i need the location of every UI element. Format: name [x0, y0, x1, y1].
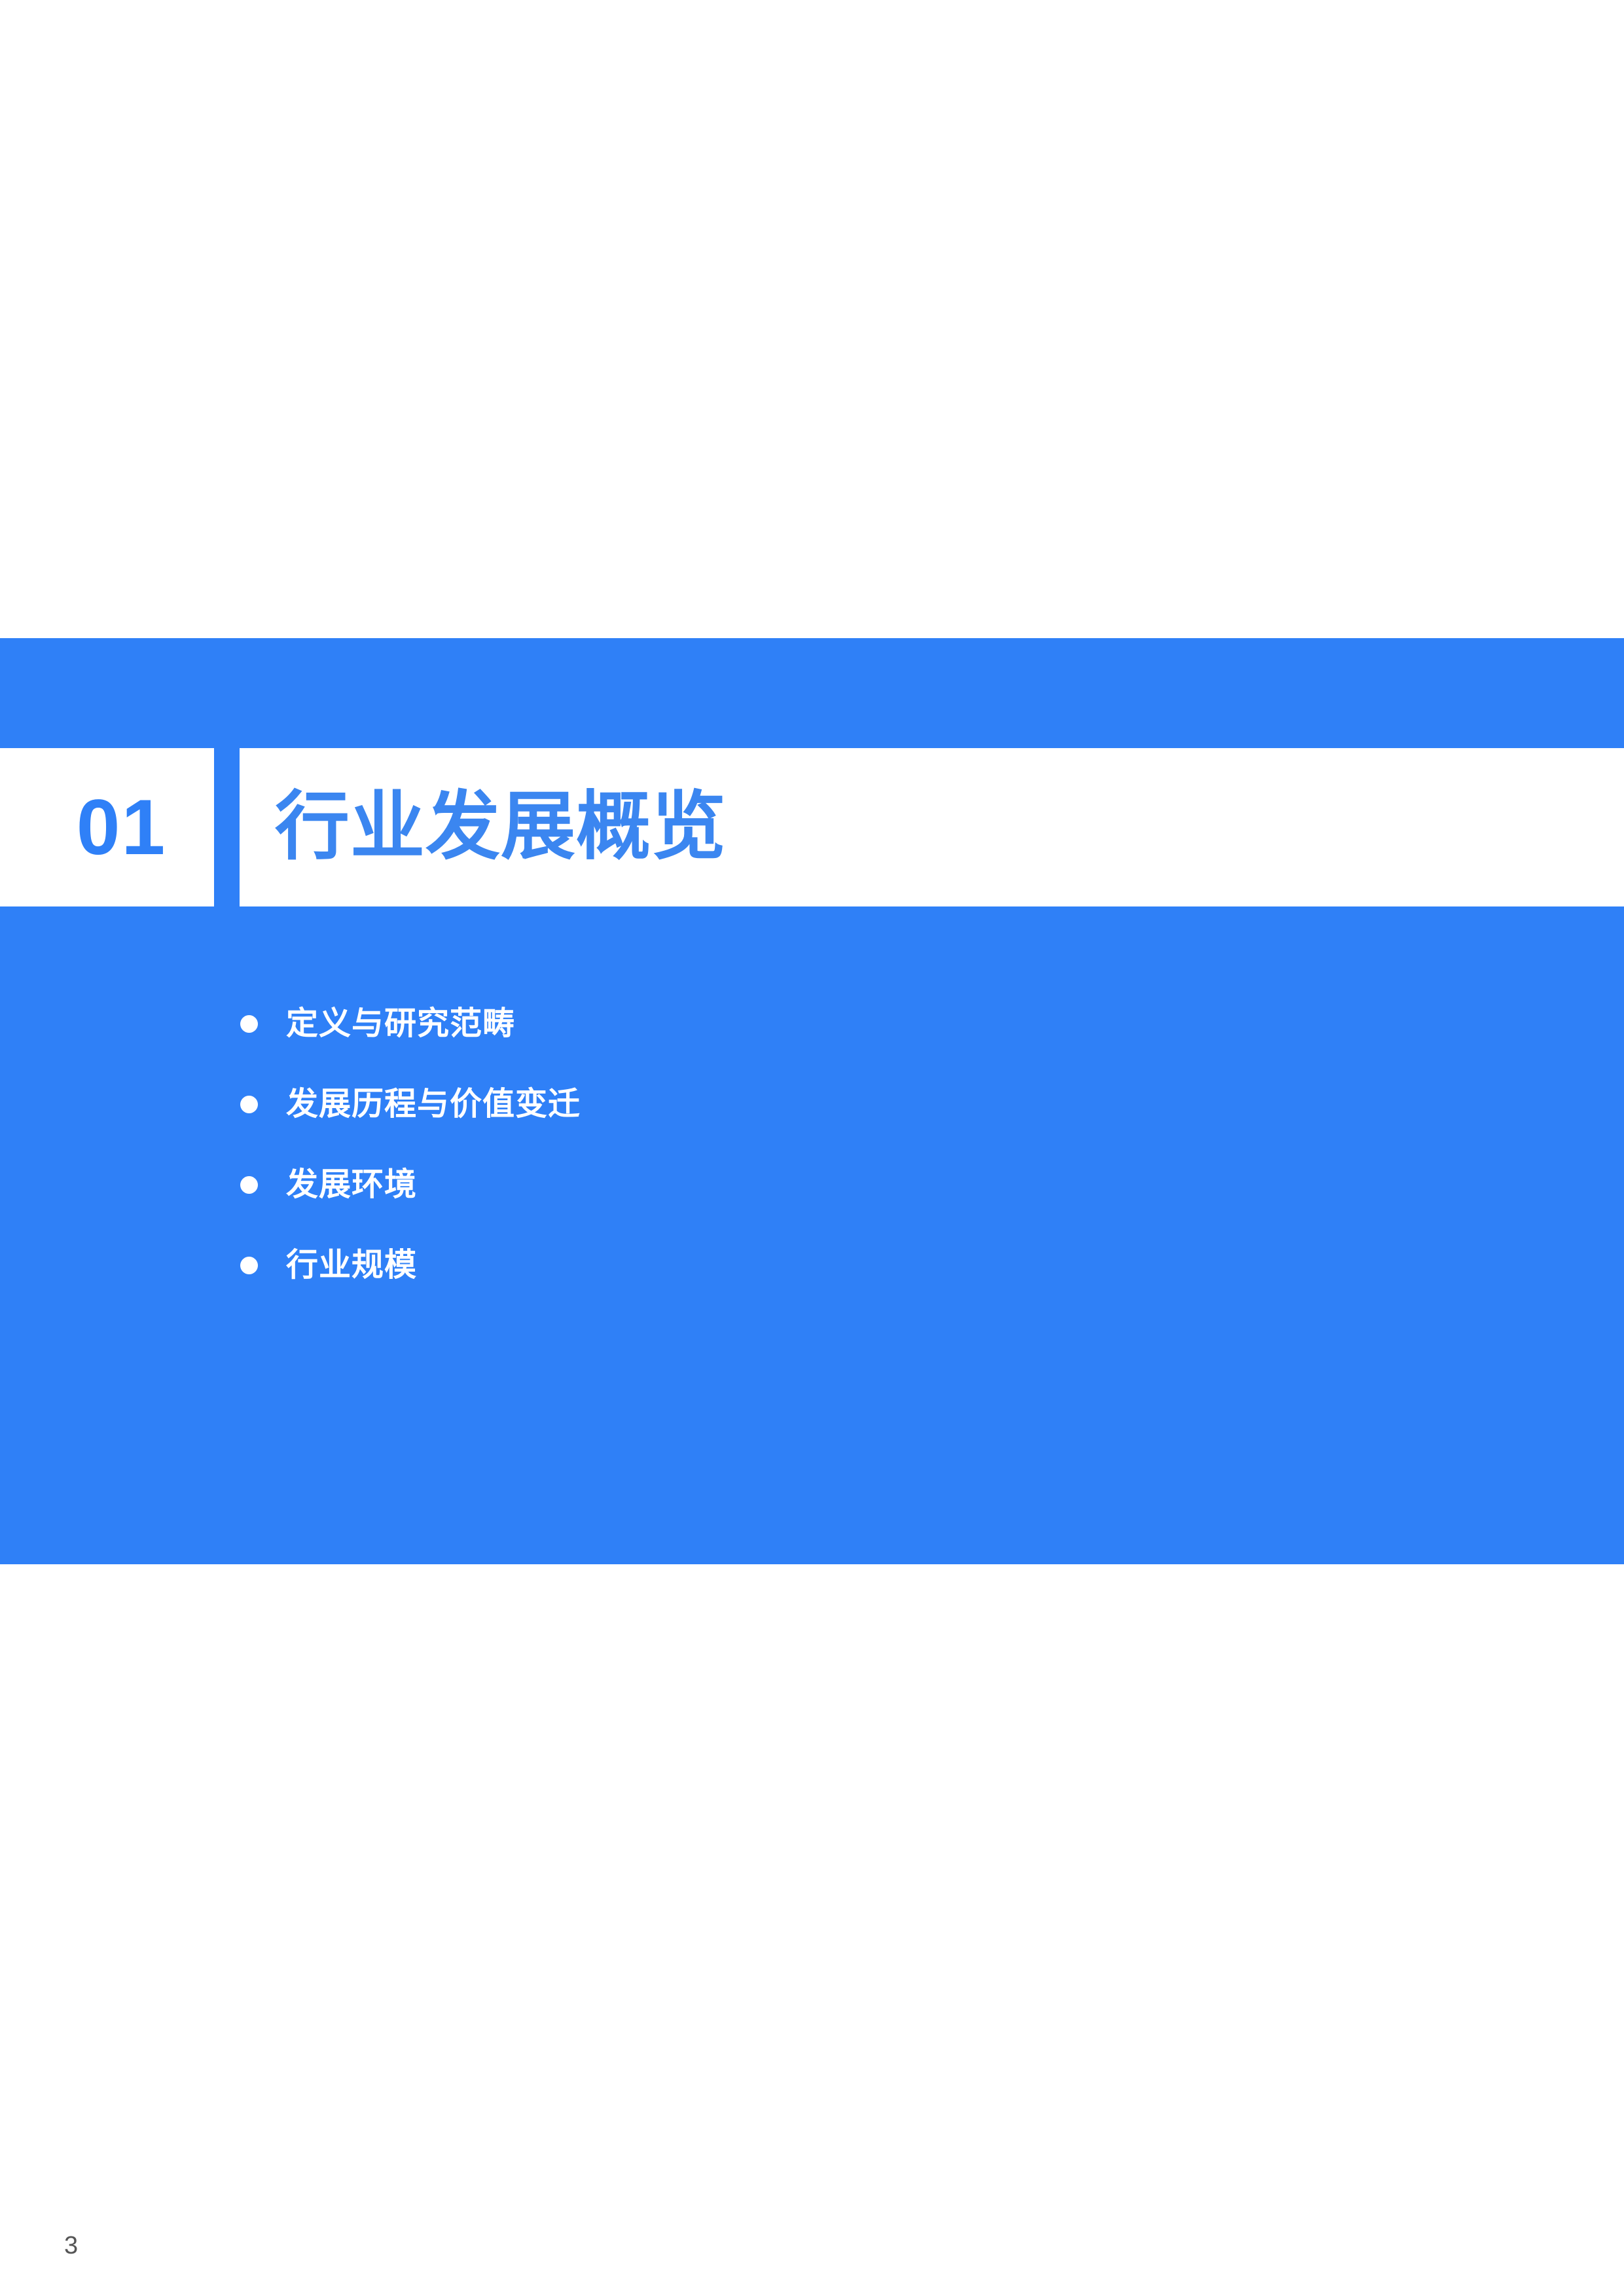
section-panel: 01 行业发展概览 定义与研究范畴 发展历程与价值变迁 发展环境 — [0, 638, 1624, 1564]
bullet-dot-icon — [240, 1015, 258, 1033]
section-header-band: 01 行业发展概览 — [0, 748, 1624, 906]
bullet-label: 定义与研究范畴 — [286, 1008, 515, 1040]
bullet-label: 发展环境 — [286, 1169, 417, 1201]
list-item: 定义与研究范畴 — [240, 984, 1418, 1064]
section-number: 01 — [48, 788, 166, 867]
page-number: 3 — [64, 2233, 78, 2258]
slide-page: 01 行业发展概览 定义与研究范畴 发展历程与价值变迁 发展环境 — [0, 0, 1624, 2296]
section-title: 行业发展概览 — [240, 790, 727, 865]
section-number-cell: 01 — [0, 748, 214, 906]
section-divider-bar — [214, 748, 240, 906]
bullet-label: 发展历程与价值变迁 — [286, 1088, 581, 1121]
bullet-dot-icon — [240, 1176, 258, 1194]
list-item: 发展历程与价值变迁 — [240, 1064, 1418, 1145]
section-bullet-list: 定义与研究范畴 发展历程与价值变迁 发展环境 行业规模 — [240, 984, 1418, 1306]
list-item: 发展环境 — [240, 1145, 1418, 1225]
list-item: 行业规模 — [240, 1225, 1418, 1306]
section-title-cell: 行业发展概览 — [240, 748, 1624, 906]
bullet-label: 行业规模 — [286, 1249, 417, 1282]
bullet-dot-icon — [240, 1096, 258, 1113]
bullet-dot-icon — [240, 1257, 258, 1274]
